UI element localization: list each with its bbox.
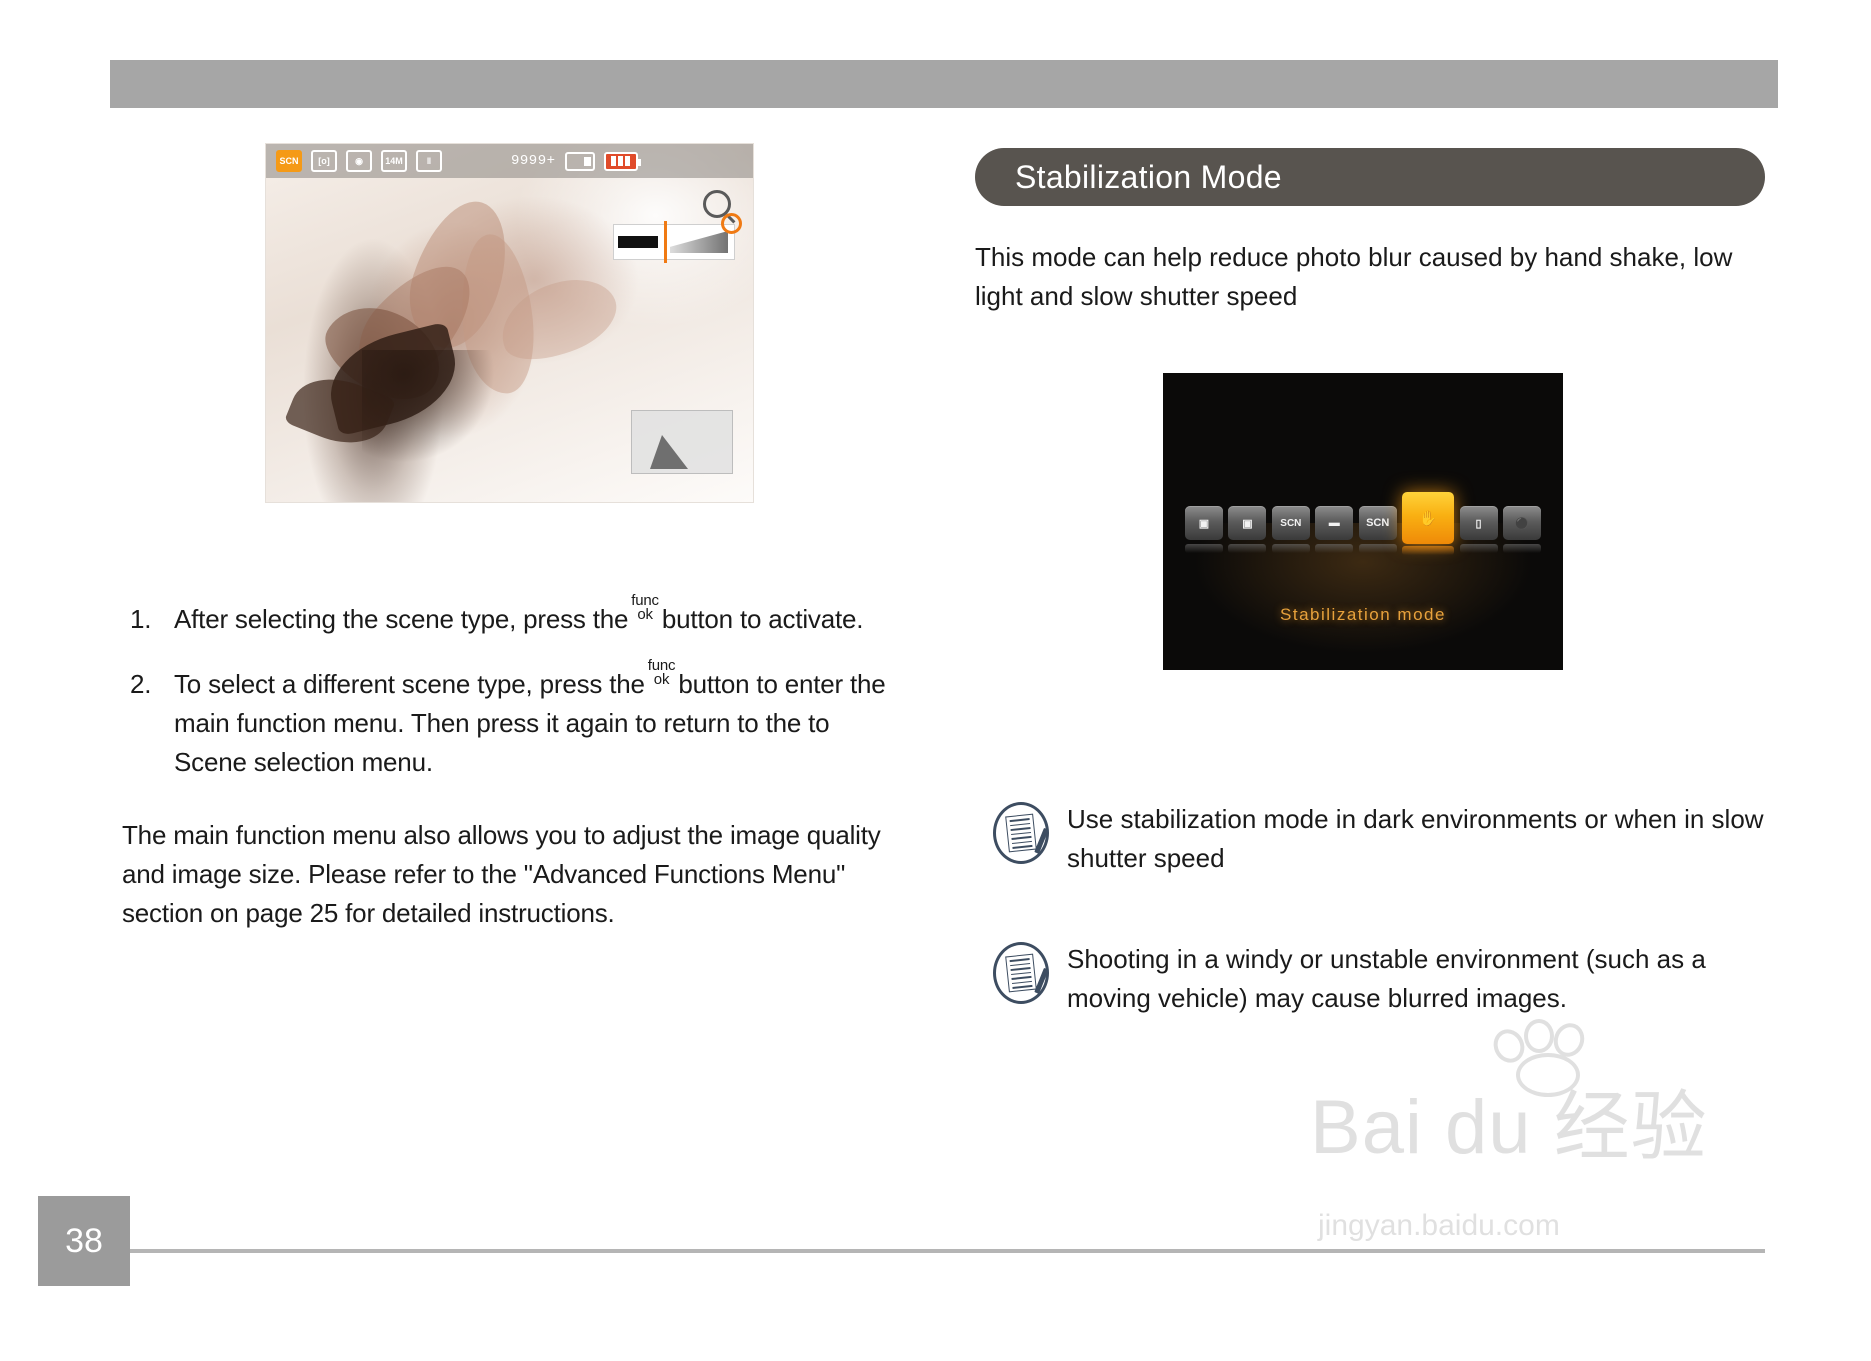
main-function-menu-paragraph: The main function menu also allows you t… [122,816,892,933]
watermark-sub: jingyan.baidu.com [1318,1209,1770,1243]
mode-caption: Stabilization mode [1163,605,1563,625]
osd-status-bar: SCN [o] ◉ 14M ‖ 9999+ [266,144,753,178]
mode-icon-row: ▣ ▣ SCN ▬ SCN ✋ ▯ ⚫ [1185,506,1541,562]
mode-menu-screenshot: ▣ ▣ SCN ▬ SCN ✋ ▯ ⚫ Stabilization mode [1163,373,1563,670]
portrait-mode-icon: ⚫ [1503,506,1541,540]
header-band [110,60,1778,108]
func-ok-button-glyph: funcok [631,594,659,622]
func-ok-button-glyph: funcok [648,659,676,687]
document-page: SCN [o] ◉ 14M ‖ 9999+ 1. After selecting… [0,0,1871,1361]
movie-mode-icon: ▯ [1460,506,1498,540]
note-text: Use stabilization mode in dark environme… [1067,800,1775,878]
note-item: Shooting in a windy or unstable environm… [975,940,1775,1018]
metering-icon: ◉ [346,150,372,172]
stabilization-mode-icon: ✋ [1402,492,1454,544]
footer-rule [130,1249,1765,1253]
focus-area-icon: [o] [311,150,337,172]
baidu-watermark: Bai du 经验 jingyan.baidu.com [1310,1065,1770,1295]
step-text-before: After selecting the scene type, press th… [174,604,628,634]
right-content-column: Stabilization Mode This mode can help re… [975,148,1765,316]
step-text-after: button to activate. [662,604,863,634]
page-title: Stabilization Mode [975,148,1765,206]
camera-preview-screenshot: SCN [o] ◉ 14M ‖ 9999+ [266,144,753,502]
shots-remaining: 9999+ [511,153,556,169]
list-item: 2. To select a different scene type, pre… [122,665,892,782]
magnifier-icon-small [721,213,742,234]
notes-container: Use stabilization mode in dark environme… [975,770,1775,1018]
battery-full-icon [604,152,638,171]
intro-paragraph: This mode can help reduce photo blur cau… [975,238,1765,316]
zoom-bar-indicator [613,224,735,260]
list-item: 1. After selecting the scene type, press… [122,600,892,639]
ok-label: ok [631,608,659,622]
auto-mode-icon: ▣ [1185,506,1223,540]
note-text: Shooting in a windy or unstable environm… [1067,940,1775,1018]
scene-mode-icon: SCN [276,150,302,172]
left-text-column: 1. After selecting the scene type, press… [122,600,892,933]
sd-card-icon [565,152,595,171]
paw-icon [1488,1019,1608,1089]
step-number: 2. [130,665,151,704]
page-number: 38 [38,1196,130,1286]
scene-mode-icon: SCN [1359,506,1397,540]
panorama-mode-icon: ▬ [1315,506,1353,540]
note-icon [993,942,1049,1004]
image-size-icon: 14M [381,150,407,172]
note-icon [993,802,1049,864]
histogram-icon [631,410,733,474]
step-text-before: To select a different scene type, press … [174,669,645,699]
program-mode-icon: ▣ [1228,506,1266,540]
step-number: 1. [130,600,151,639]
image-quality-icon: ‖ [416,150,442,172]
steps-list: 1. After selecting the scene type, press… [122,600,892,782]
ok-label: ok [648,673,676,687]
note-item: Use stabilization mode in dark environme… [975,800,1775,878]
watermark-main: Bai du 经验 [1310,1065,1770,1175]
auto-scene-mode-icon: SCN [1272,506,1310,540]
